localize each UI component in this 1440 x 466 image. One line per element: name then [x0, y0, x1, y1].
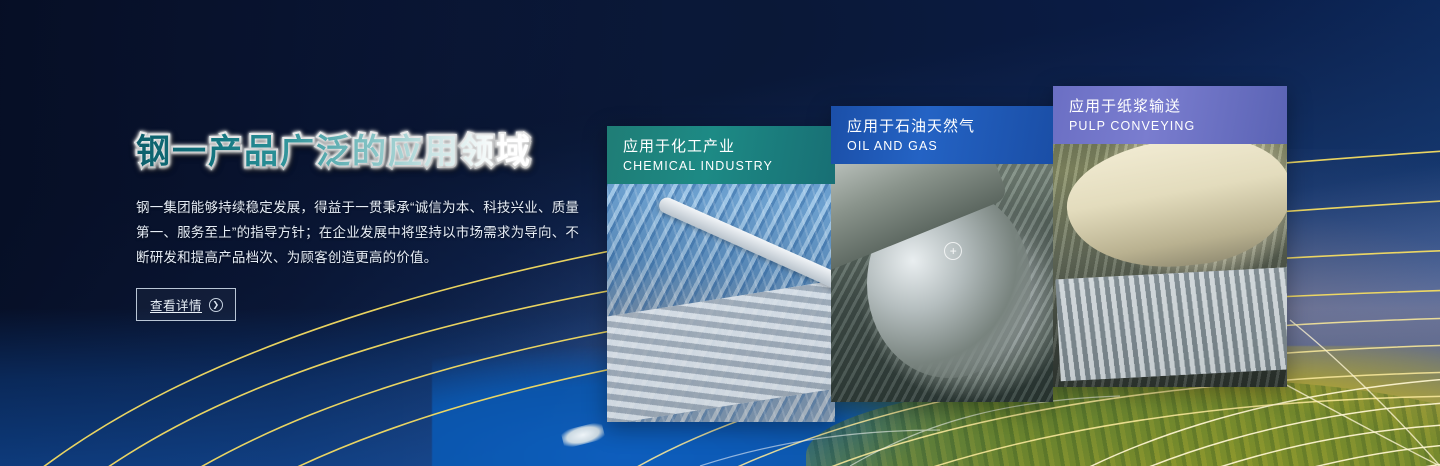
card-title-en: PULP CONVEYING: [1069, 118, 1273, 135]
card-caption: 应用于化工产业 CHEMICAL INDUSTRY: [607, 126, 835, 184]
application-card-pulp-conveying[interactable]: 应用于纸浆输送 PULP CONVEYING: [1053, 86, 1287, 387]
banner-description: 钢一集团能够持续稳定发展，得益于一贯秉承“诚信为本、科技兴业、质量第一、服务至上…: [136, 195, 591, 270]
view-details-label: 查看详情: [150, 295, 202, 314]
card-caption: 应用于纸浆输送 PULP CONVEYING: [1053, 86, 1287, 144]
card-title-cn: 应用于纸浆输送: [1069, 97, 1273, 117]
card-title-cn: 应用于石油天然气: [847, 117, 1039, 137]
card-title-en: CHEMICAL INDUSTRY: [623, 158, 821, 175]
card-title-cn: 应用于化工产业: [623, 137, 821, 157]
application-card-oil-and-gas[interactable]: + 应用于石油天然气 OIL AND GAS: [831, 106, 1053, 402]
card-caption: 应用于石油天然气 OIL AND GAS: [831, 106, 1053, 164]
hero-banner: 钢一产品广泛的应用领域 钢一产品广泛的应用领域 钢一集团能够持续稳定发展，得益于…: [0, 0, 1440, 466]
page-title-text: 钢一产品广泛的应用领域: [136, 133, 532, 171]
card-title-en: OIL AND GAS: [847, 138, 1039, 155]
page-title: 钢一产品广泛的应用领域 钢一产品广泛的应用领域: [136, 133, 606, 175]
banner-copy: 钢一产品广泛的应用领域 钢一产品广泛的应用领域 钢一集团能够持续稳定发展，得益于…: [136, 133, 606, 321]
view-details-button[interactable]: 查看详情 ❯: [136, 288, 236, 321]
chevron-right-circle-icon: ❯: [209, 298, 223, 312]
application-card-chemical-industry[interactable]: 应用于化工产业 CHEMICAL INDUSTRY: [607, 126, 835, 422]
